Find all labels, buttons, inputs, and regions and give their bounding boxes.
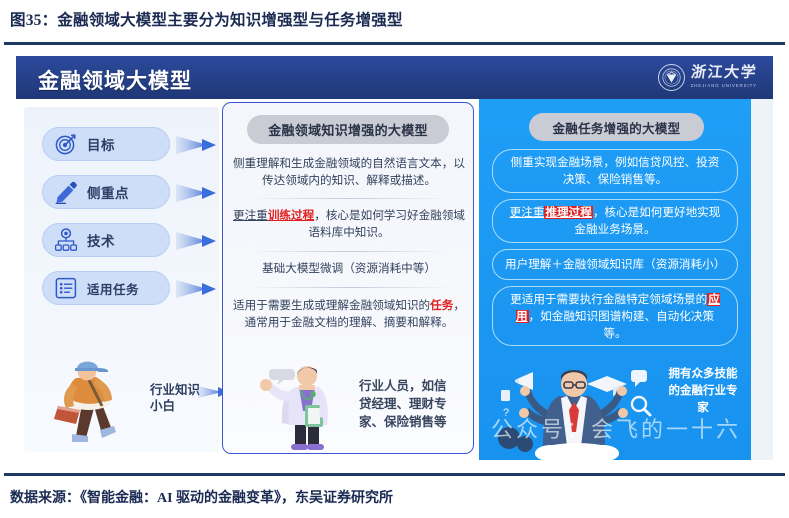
knowledge-row-focus-highlight: 训练过程 (268, 209, 314, 222)
criterion-pill-tasks[interactable]: 适用任务 (42, 271, 170, 305)
pencil-icon (53, 179, 79, 205)
middle-persona-label: 行业人员，如信贷经理、理财专家、保险销售等 (359, 377, 455, 431)
task-panel-title: 金融任务增强的大模型 (552, 118, 680, 137)
task-row-focus-text-b: ，核心是如何更好地实现金融业务场景。 (574, 206, 720, 236)
slide-header-bar: 金融领域大模型 浙江大学 ZHEJIANG UNIVERSITY (16, 56, 773, 99)
novice-person-illustration (32, 435, 150, 452)
knowledge-panel-title-chip: 金融领域知识增强的大模型 (247, 115, 449, 144)
criterion-label-tasks: 适用任务 (87, 279, 139, 298)
university-wordmark: 浙江大学 ZHEJIANG UNIVERSITY (691, 66, 757, 88)
professional-person-illustration (245, 363, 363, 454)
task-row-focus-highlight: 推理过程 (544, 206, 592, 219)
flow-arrow-3-icon (176, 231, 220, 251)
university-name-en: ZHEJIANG UNIVERSITY (691, 84, 757, 88)
knowledge-panel-title: 金融领域知识增强的大模型 (268, 120, 428, 139)
criterion-pill-focus[interactable]: 侧重点 (42, 175, 170, 209)
task-row-tasks-text-b: ，如金融知识图谱构建、自动化决策等。 (529, 310, 715, 340)
knowledge-row-tasks: 适用于需要生成或理解金融领域知识的任务，通常用于金融文档的理解、摘要和解释。 (233, 297, 465, 331)
knowledge-row-tasks-text-a: 适用于需要生成或理解金融领域知识的 (233, 299, 430, 312)
knowledge-divider-2 (247, 251, 451, 252)
task-row-goal: 侧重实现金融场景，例如信贷风控、投资决策、保险销售等。 (492, 149, 738, 193)
slide-container: 金融领域大模型 浙江大学 ZHEJIANG UNIVERSITY (16, 56, 773, 460)
knowledge-row-focus: 更注重训练过程，核心是如何学习好金融领域语料库中知识。 (233, 207, 465, 241)
network-icon (53, 227, 79, 253)
university-seal-icon (658, 64, 685, 91)
task-row-goal-text: 侧重实现金融场景，例如信贷风控、投资决策、保险销售等。 (505, 154, 725, 188)
caption-divider (4, 42, 785, 45)
flow-arrow-2-icon (176, 183, 220, 203)
criterion-label-goal: 目标 (87, 134, 115, 154)
slide-title: 金融领域大模型 (38, 65, 192, 95)
left-persona-label: 行业知识小白 (150, 382, 202, 414)
knowledge-divider-3 (247, 287, 451, 288)
footer-divider (4, 473, 785, 476)
knowledge-divider-1 (247, 198, 451, 199)
source-note: 数据来源：《智能金融：AI 驱动的金融变革》，东吴证券研究所 (10, 487, 780, 507)
knowledge-row-goal-text: 侧重理解和生成金融领域的自然语言文本，以传达领域内的知识、解释或描述。 (233, 157, 465, 187)
criterion-label-focus: 侧重点 (87, 182, 129, 202)
right-persona-block: ? (479, 360, 751, 460)
university-name-cn: 浙江大学 (690, 66, 758, 81)
knowledge-row-focus-text-b: ，核心是如何学习好金融领域语料库中知识。 (308, 209, 465, 239)
middle-persona-block: 行业人员，如信贷经理、理财专家、保险销售等 (223, 361, 474, 453)
figure-caption: 图35：金融领域大模型主要分为知识增强型与任务增强型 (10, 8, 780, 38)
task-row-technology-text: 用户理解＋金融领域知识库（资源消耗小） (505, 256, 725, 273)
task-row-tasks: 更适用于需要执行金融特定领域场景的应用，如金融知识图谱构建、自动化决策等。 (492, 286, 738, 346)
left-criteria-column: 目标 侧重点 (24, 107, 219, 452)
task-enhanced-panel: 金融任务增强的大模型 侧重实现金融场景，例如信贷风控、投资决策、保险销售等。 更… (479, 99, 751, 460)
checklist-icon (53, 275, 79, 301)
knowledge-enhanced-panel: 金融领域知识增强的大模型 侧重理解和生成金融领域的自然语言文本，以传达领域内的知… (222, 102, 474, 454)
knowledge-row-technology-text: 基础大模型微调（资源消耗中等） (262, 262, 436, 275)
knowledge-row-goal: 侧重理解和生成金融领域的自然语言文本，以传达领域内的知识、解释或描述。 (233, 155, 465, 189)
multiskilled-expert-illustration: ? (489, 360, 679, 460)
knowledge-row-tasks-highlight: 任务 (430, 299, 453, 312)
flow-arrow-1-icon (176, 135, 220, 155)
task-panel-title-chip: 金融任务增强的大模型 (529, 113, 704, 141)
knowledge-row-focus-text-a: 更注重 (233, 209, 268, 222)
criterion-pill-goal[interactable]: 目标 (42, 127, 170, 161)
right-edge-panel (751, 99, 773, 460)
task-row-technology: 用户理解＋金融领域知识库（资源消耗小） (492, 249, 738, 280)
criterion-pill-technology[interactable]: 技术 (42, 223, 170, 257)
flow-arrow-4-icon (176, 279, 220, 299)
task-row-focus: 更注重推理过程，核心是如何更好地实现金融业务场景。 (492, 199, 738, 243)
knowledge-row-technology: 基础大模型微调（资源消耗中等） (233, 260, 465, 277)
right-persona-label: 拥有众多技能的金融行业专家 (667, 366, 739, 417)
task-row-focus-text-a: 更注重 (510, 206, 545, 219)
target-icon (53, 131, 79, 157)
criterion-label-technology: 技术 (87, 230, 115, 250)
left-persona-block: 行业知识小白 (32, 356, 227, 448)
slide-body: 目标 侧重点 (16, 99, 773, 460)
svg-text:?: ? (503, 407, 509, 419)
zhejiang-university-logo: 浙江大学 ZHEJIANG UNIVERSITY (658, 62, 757, 92)
task-row-tasks-text-a: 更适用于需要执行金融特定领域场景的 (510, 293, 707, 306)
